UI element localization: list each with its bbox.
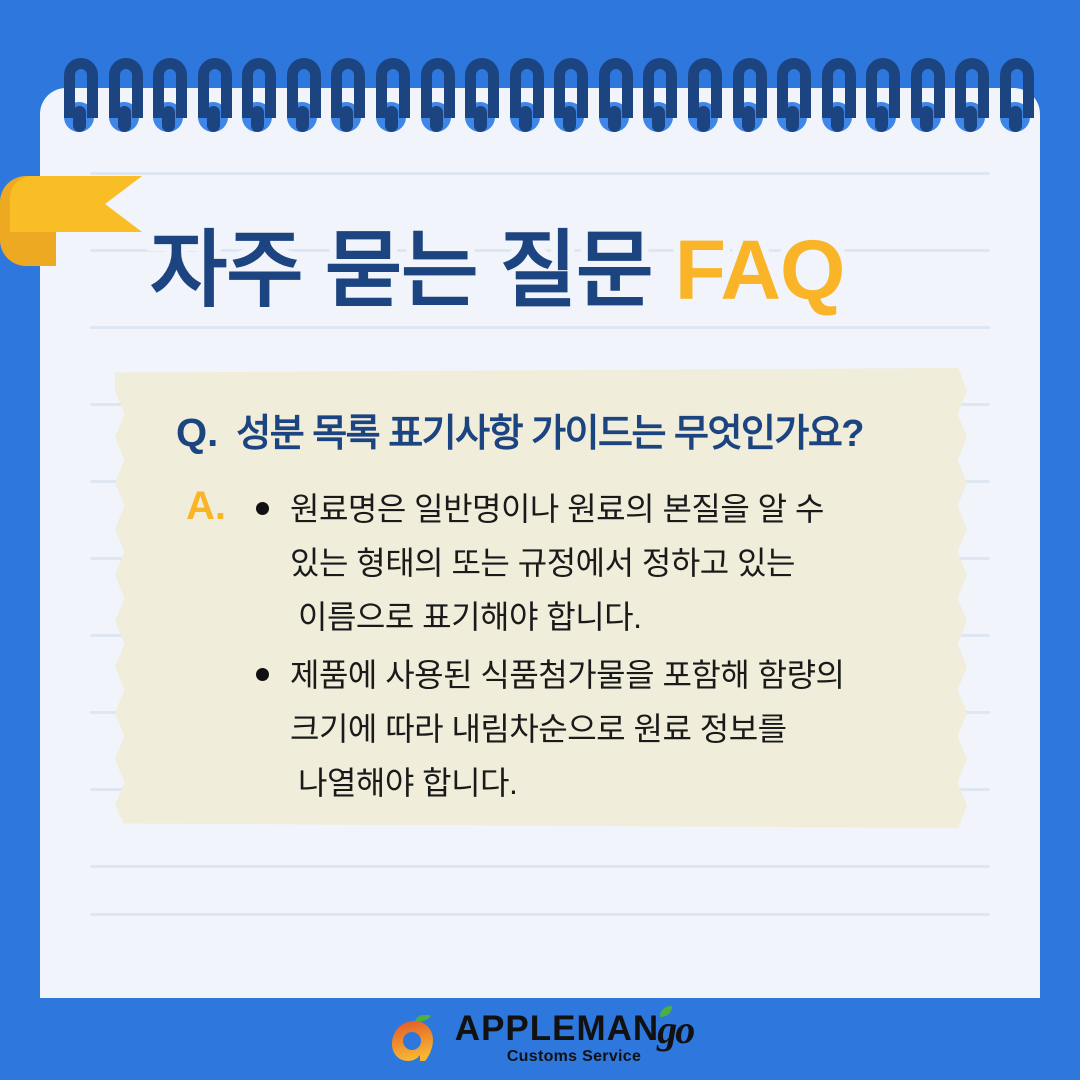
answer-line: 있는 형태의 또는 규정에서 정하고 있는 <box>290 536 952 590</box>
title-acronym: FAQ <box>675 223 845 317</box>
page-title: 자주 묻는 질문 FAQ <box>150 228 844 312</box>
question-marker: Q. <box>176 411 218 456</box>
answer-marker: A. <box>186 484 226 529</box>
brand-text: APPLEMAN go Customs Service <box>455 1011 693 1066</box>
answer-bullet-item: 원료명은 일반명이나 원료의 본질을 알 수있는 형태의 또는 규정에서 정하고… <box>252 482 952 644</box>
rule-line <box>90 172 990 175</box>
footer-branding: APPLEMAN go Customs Service <box>0 1011 1080 1066</box>
rule-line <box>90 865 990 868</box>
rule-line <box>90 913 990 916</box>
answer-line: 크기에 따라 내림차순으로 원료 정보를 <box>290 702 952 756</box>
answer-bullet-item: 제품에 사용된 식품첨가물을 포함해 함량의크기에 따라 내림차순으로 원료 정… <box>252 648 952 810</box>
bullet-dot-icon <box>256 668 269 681</box>
rule-line <box>90 326 990 329</box>
mango-a-icon <box>387 1015 441 1063</box>
answer-line: 나열해야 합니다. <box>290 756 952 810</box>
answer-line: 원료명은 일반명이나 원료의 본질을 알 수 <box>290 482 952 536</box>
bullet-dot-icon <box>256 502 269 515</box>
answer-line: 제품에 사용된 식품첨가물을 포함해 함량의 <box>290 648 952 702</box>
brand-suffix: go <box>657 1014 693 1046</box>
brand-main: APPLEMAN <box>455 1011 659 1046</box>
faq-card: 자주 묻는 질문 FAQ Q. 성분 목록 표기사항 가이드는 무엇인가요? A… <box>0 0 1080 1080</box>
title-korean: 자주 묻는 질문 <box>150 223 652 317</box>
brand-wordmark: APPLEMAN go <box>455 1011 693 1046</box>
question-row: Q. 성분 목록 표기사항 가이드는 무엇인가요? <box>176 402 863 457</box>
answer-list: 원료명은 일반명이나 원료의 본질을 알 수있는 형태의 또는 규정에서 정하고… <box>252 482 952 810</box>
question-text: 성분 목록 표기사항 가이드는 무엇인가요? <box>236 402 863 457</box>
answer-line: 이름으로 표기해야 합니다. <box>290 590 952 644</box>
leaf-icon <box>659 1006 673 1018</box>
